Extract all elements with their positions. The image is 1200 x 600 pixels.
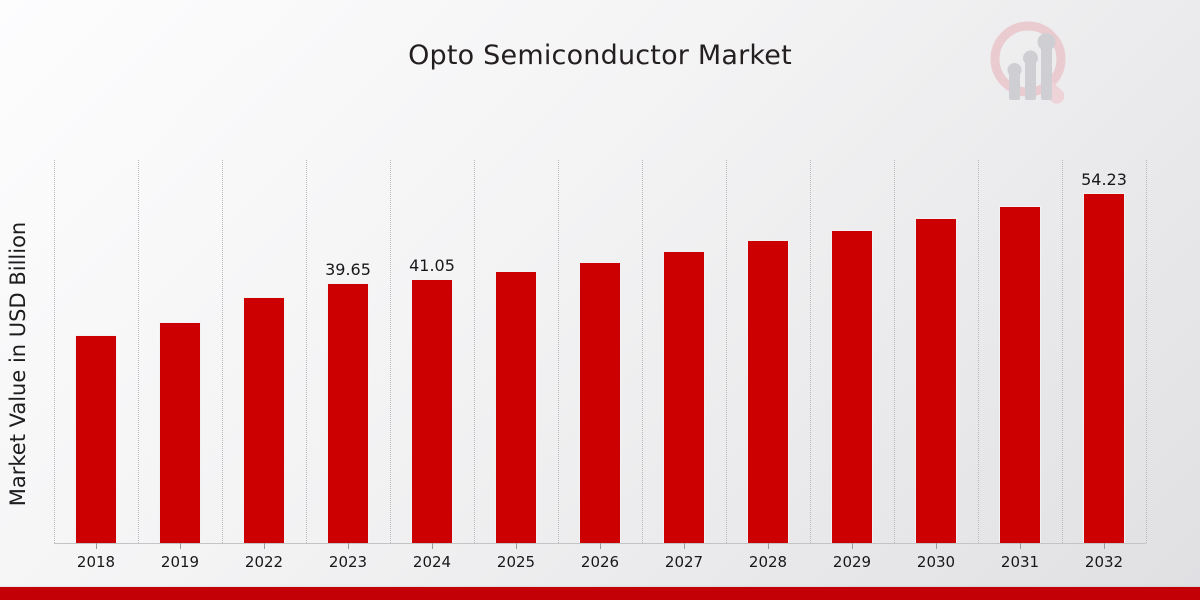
gridline-vertical [558,160,559,543]
bar-trend-icon [1008,33,1056,100]
gridline-vertical [1062,160,1063,543]
x-tick-label-2032: 2032 [1059,553,1149,571]
footer-accent-band [0,587,1200,600]
bar-2018[interactable] [75,335,117,543]
bar-2032[interactable] [1083,193,1125,543]
gridline-vertical [1146,160,1147,543]
gridline-vertical [726,160,727,543]
bar-2019[interactable] [159,322,201,543]
x-tick-label-2029: 2029 [807,553,897,571]
x-tick-mark-2026 [600,543,601,549]
x-tick-mark-2031 [1020,543,1021,549]
y-axis-label: Market Value in USD Billion [6,154,30,574]
gridline-vertical [138,160,139,543]
gridline-vertical [390,160,391,543]
bar-value-label-2032: 54.23 [1059,170,1149,189]
x-tick-mark-2023 [348,543,349,549]
bar-value-label-2024: 41.05 [387,256,477,275]
x-tick-mark-2019 [180,543,181,549]
gridline-vertical [894,160,895,543]
x-tick-mark-2028 [768,543,769,549]
bar-2023[interactable] [327,283,369,543]
gridline-vertical [474,160,475,543]
chart-canvas: Opto Semiconductor Market Market Value i… [0,0,1200,600]
x-tick-label-2026: 2026 [555,553,645,571]
x-tick-mark-2022 [264,543,265,549]
bar-value-label-2023: 39.65 [303,260,393,279]
x-tick-label-2031: 2031 [975,553,1065,571]
x-tick-label-2025: 2025 [471,553,561,571]
gridline-vertical [978,160,979,543]
x-tick-label-2027: 2027 [639,553,729,571]
bar-2028[interactable] [747,240,789,543]
gridline-vertical [642,160,643,543]
bar-2027[interactable] [663,251,705,543]
x-tick-mark-2027 [684,543,685,549]
gridline-vertical [810,160,811,543]
x-tick-mark-2018 [96,543,97,549]
x-tick-label-2030: 2030 [891,553,981,571]
x-tick-mark-2030 [936,543,937,549]
gridline-vertical [222,160,223,543]
market-research-magnifier-logo [978,14,1082,110]
x-tick-mark-2029 [852,543,853,549]
x-tick-label-2022: 2022 [219,553,309,571]
bar-2024[interactable] [411,279,453,543]
gridline-vertical [306,160,307,543]
x-tick-label-2019: 2019 [135,553,225,571]
x-tick-label-2023: 2023 [303,553,393,571]
bar-2026[interactable] [579,262,621,543]
x-tick-mark-2024 [432,543,433,549]
x-tick-label-2028: 2028 [723,553,813,571]
x-tick-label-2024: 2024 [387,553,477,571]
bar-2022[interactable] [243,297,285,543]
bar-2029[interactable] [831,230,873,543]
x-tick-label-2018: 2018 [51,553,141,571]
bar-2031[interactable] [999,206,1041,543]
x-tick-mark-2025 [516,543,517,549]
gridline-vertical [54,160,55,543]
x-tick-mark-2032 [1104,543,1105,549]
bar-2025[interactable] [495,271,537,543]
bar-2030[interactable] [915,218,957,543]
